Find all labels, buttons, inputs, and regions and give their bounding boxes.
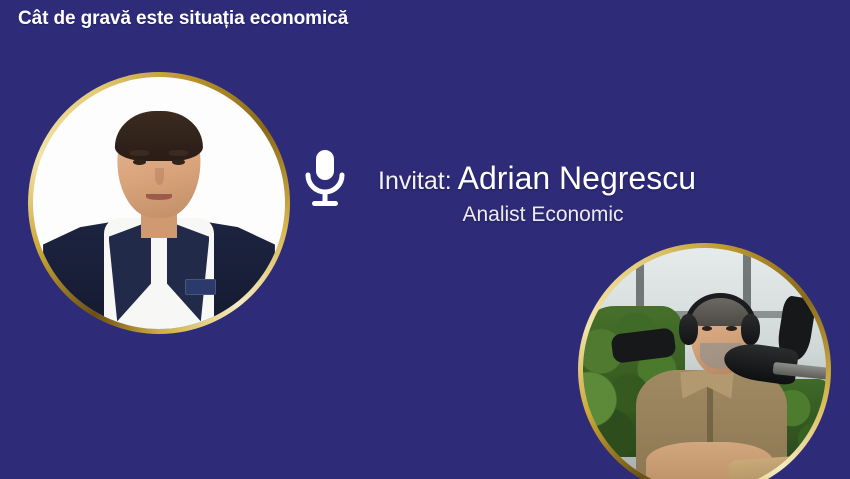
host-eye-right: [726, 326, 736, 331]
guest-name-line: Invitat:Adrian Negrescu: [378, 160, 696, 197]
host-portrait-frame: [578, 243, 831, 479]
guest-portrait-frame: [28, 72, 290, 334]
guest-eyebrow-right: [169, 150, 188, 156]
microphone-icon: [299, 148, 351, 210]
guest-pocket-square: [185, 279, 215, 295]
headphone-cup-left: [679, 314, 698, 346]
guest-portrait-image: [33, 77, 285, 329]
guest-label: Invitat:: [378, 167, 452, 195]
guest-hair: [115, 111, 203, 161]
host-eye-left: [702, 326, 712, 331]
podcast-episode-card: Cât de gravă este situația economică: [0, 0, 850, 479]
guest-role: Analist Economic: [378, 203, 708, 227]
page-title: Cât de gravă este situația economică: [18, 8, 348, 30]
guest-name: Adrian Negrescu: [458, 160, 696, 196]
headphone-cup-right: [741, 314, 760, 346]
host-portrait-image: [583, 248, 826, 479]
guest-eyebrow-left: [130, 150, 149, 156]
